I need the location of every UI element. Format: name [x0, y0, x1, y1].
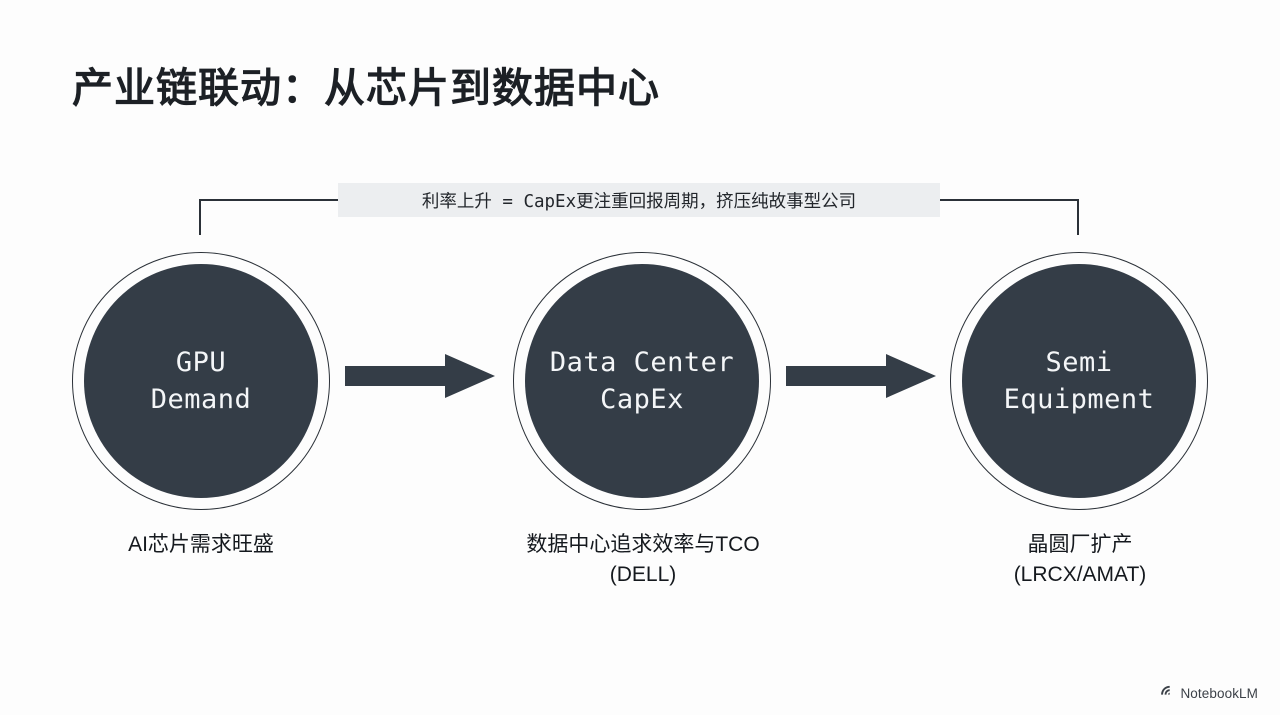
feedback-connector-right-horizontal — [939, 199, 1079, 201]
node-label: Semi Equipment — [1004, 344, 1155, 419]
arrow-gpu-to-datacenter — [345, 354, 495, 398]
node-label: GPU Demand — [151, 344, 252, 419]
page-title: 产业链联动：从芯片到数据中心 — [72, 54, 660, 114]
feedback-connector-right-vertical — [1077, 199, 1079, 235]
node-data-center-capex[interactable]: Data Center CapEx — [513, 252, 771, 510]
node-label: Data Center CapEx — [550, 344, 734, 419]
node-caption-semi-equipment: 晶圆厂扩产 (LRCX/AMAT) — [930, 530, 1230, 590]
feedback-connector-left-horizontal — [199, 199, 339, 201]
node-semi-equipment[interactable]: Semi Equipment — [950, 252, 1208, 510]
node-caption-data-center-capex: 数据中心追求效率与TCO (DELL) — [473, 530, 813, 590]
footer-watermark: NotebookLM — [1159, 683, 1258, 703]
slide-canvas: 产业链联动：从芯片到数据中心 利率上升 = CapEx更注重回报周期，挤压纯故事… — [0, 0, 1280, 715]
node-gpu-demand[interactable]: GPU Demand — [72, 252, 330, 510]
feedback-banner-text: 利率上升 = CapEx更注重回报周期，挤压纯故事型公司 — [422, 188, 856, 213]
node-disc: GPU Demand — [84, 264, 318, 498]
node-disc: Semi Equipment — [962, 264, 1196, 498]
node-caption-gpu-demand: AI芯片需求旺盛 — [51, 530, 351, 560]
node-disc: Data Center CapEx — [525, 264, 759, 498]
footer-brand-label: NotebookLM — [1180, 686, 1258, 701]
feedback-connector-left-vertical — [199, 199, 201, 235]
feedback-banner: 利率上升 = CapEx更注重回报周期，挤压纯故事型公司 — [338, 183, 940, 217]
notebooklm-logo-icon — [1159, 683, 1174, 703]
arrow-datacenter-to-semi — [786, 354, 936, 398]
